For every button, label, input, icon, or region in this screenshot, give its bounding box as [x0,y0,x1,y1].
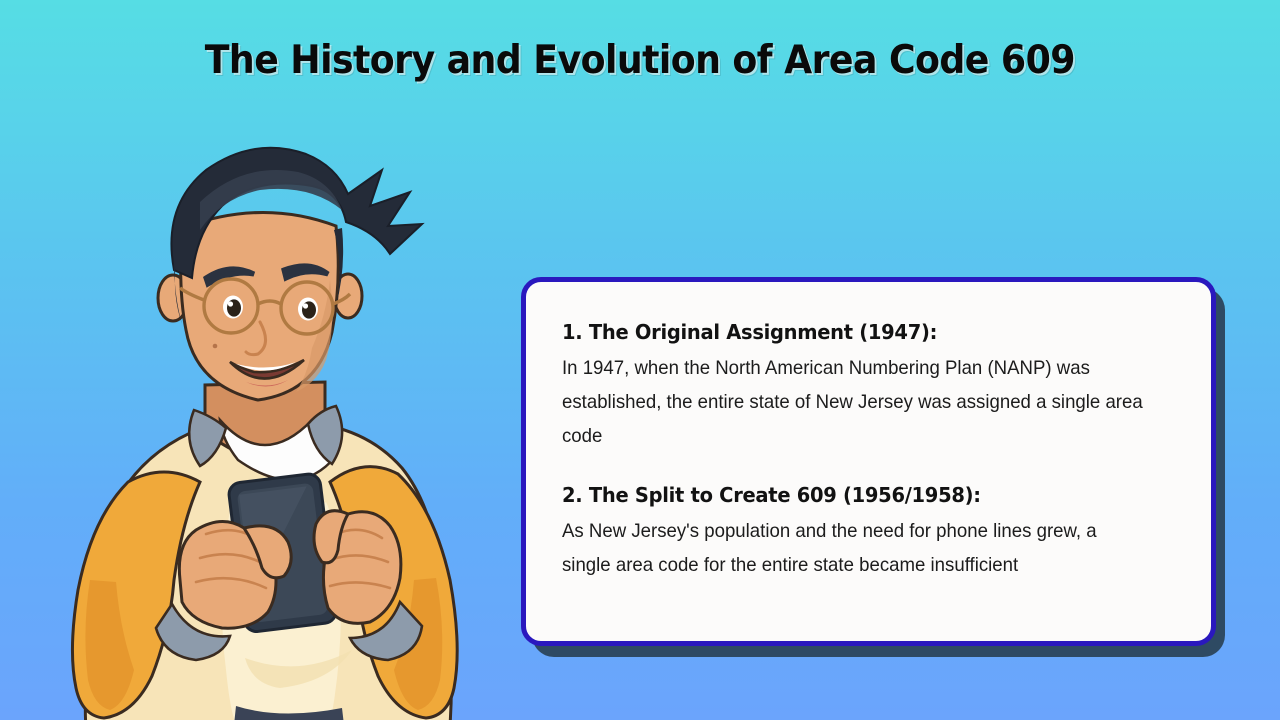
page-title: The History and Evolution of Area Code 6… [205,38,1075,83]
card-section-2: 2. The Split to Create 609 (1956/1958): … [562,483,1177,582]
section-1-heading: 1. The Original Assignment (1947): [562,320,1146,344]
title-bar: The History and Evolution of Area Code 6… [0,0,1280,120]
section-1-body: In 1947, when the North American Numberi… [562,351,1149,453]
content-card: 1. The Original Assignment (1947): In 19… [521,277,1216,646]
illustration-young-man-using-smartphone [30,110,500,720]
section-2-heading: 2. The Split to Create 609 (1956/1958): [562,483,1146,507]
section-2-body: As New Jersey's population and the need … [562,514,1149,582]
card-section-1: 1. The Original Assignment (1947): In 19… [562,320,1177,453]
